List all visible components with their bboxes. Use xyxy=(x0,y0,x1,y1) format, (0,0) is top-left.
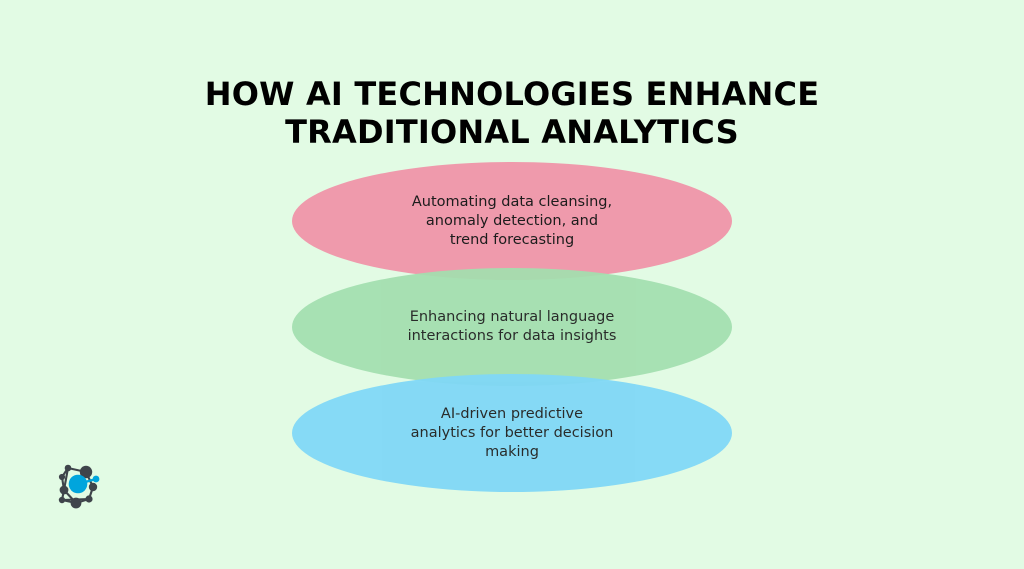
ellipse-predictive[interactable]: AI-driven predictive analytics for bette… xyxy=(292,374,732,492)
ellipse-diagram: Automating data cleansing, anomaly detec… xyxy=(292,158,732,498)
slide-canvas: HOW AI TECHNOLOGIES ENHANCE TRADITIONAL … xyxy=(0,0,1024,569)
page-title: HOW AI TECHNOLOGIES ENHANCE TRADITIONAL … xyxy=(112,75,912,151)
ellipse-automation[interactable]: Automating data cleansing, anomaly detec… xyxy=(292,162,732,280)
ellipse-predictive-label: AI-driven predictive analytics for bette… xyxy=(355,405,670,462)
ellipse-nlp[interactable]: Enhancing natural language interactions … xyxy=(292,268,732,386)
ellipse-nlp-label: Enhancing natural language interactions … xyxy=(352,308,673,346)
ellipse-automation-label: Automating data cleansing, anomaly detec… xyxy=(356,193,668,250)
network-graph-logo xyxy=(52,456,108,512)
